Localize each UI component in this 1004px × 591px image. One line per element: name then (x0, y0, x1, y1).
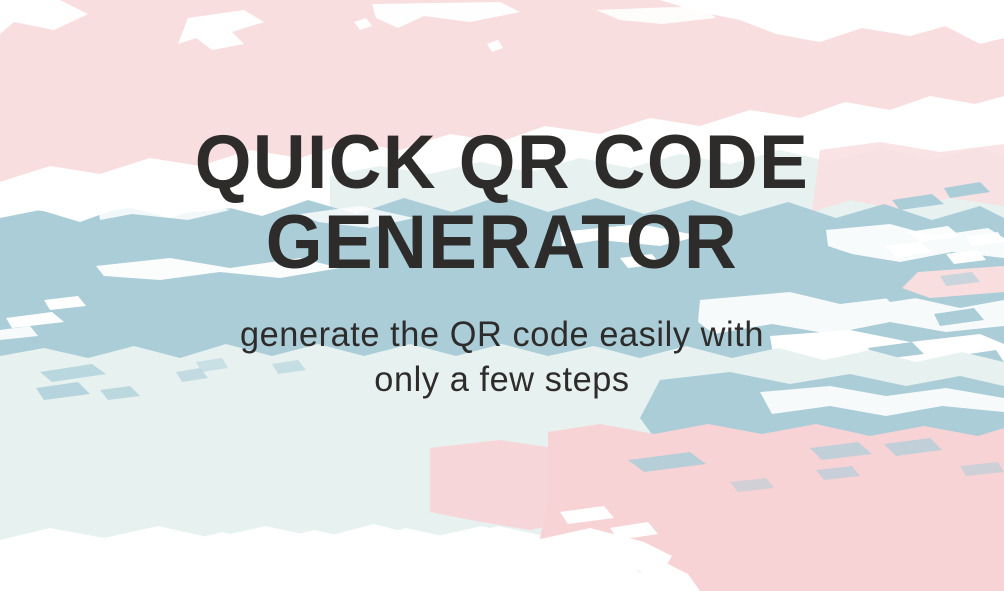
decorative-brush-background (0, 0, 1004, 591)
pink-wash-bottom-mid (430, 440, 1004, 530)
banner-canvas: QUICK QR CODE GENERATOR generate the QR … (0, 0, 1004, 591)
